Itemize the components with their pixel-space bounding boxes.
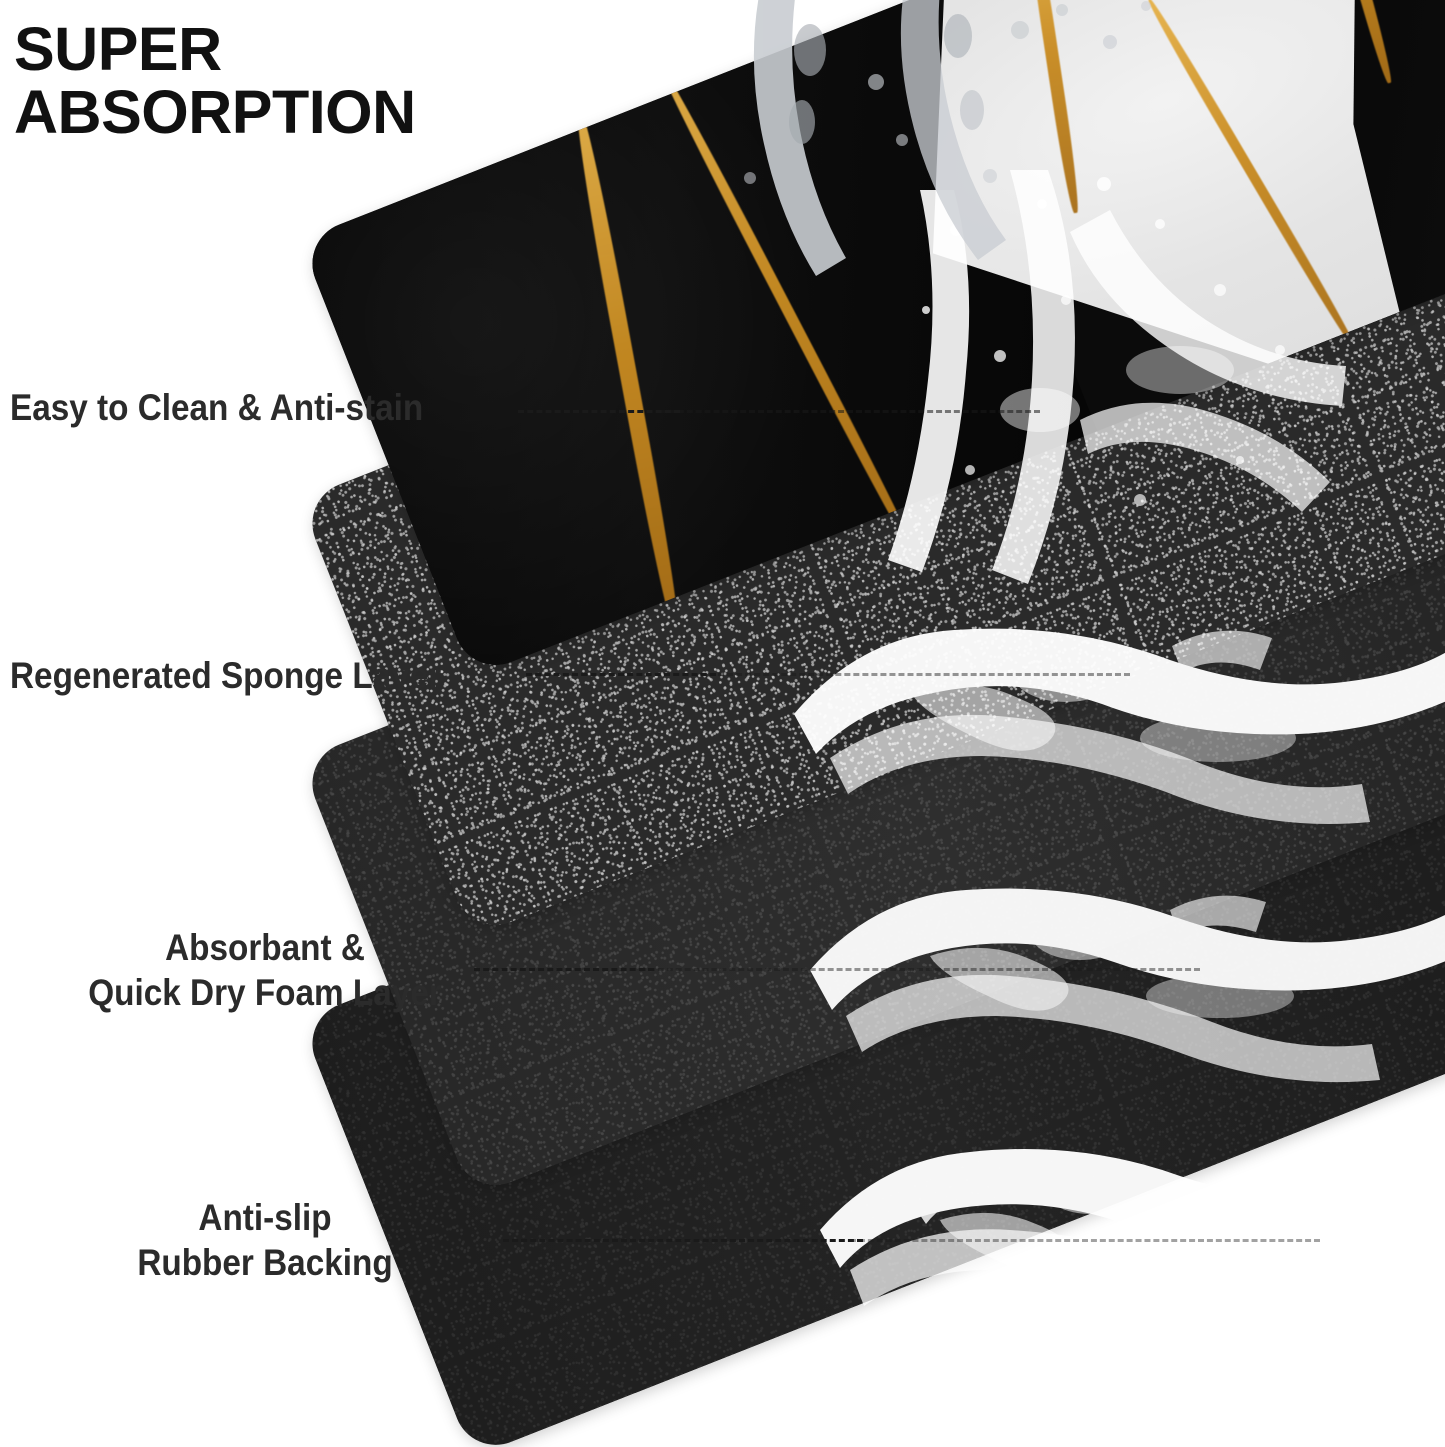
callout-regenerated-sponge: Regenerated Sponge Layer: [10, 653, 441, 698]
leader-line-sponge: [526, 673, 716, 676]
leader-line-easy-to-clean-over: [660, 410, 1040, 413]
leader-line-rubber: [503, 1239, 863, 1242]
page-title: SUPER ABSORPTION: [14, 18, 634, 144]
leader-line-foam: [474, 968, 654, 971]
leader-line-foam-over: [640, 968, 1200, 971]
callout-anti-slip-rubber: Anti-slip Rubber Backing: [81, 1195, 450, 1285]
infographic-canvas: SUPER ABSORPTION Easy to Clean & Anti-st…: [0, 0, 1445, 1447]
leader-line-sponge-over: [700, 673, 1130, 676]
callout-absorbant-foam: Absorbant & Quick Dry Foam Layer: [54, 925, 477, 1015]
leader-line-rubber-over: [850, 1239, 1320, 1242]
leader-line-easy-to-clean: [518, 410, 680, 413]
callout-easy-to-clean: Easy to Clean & Anti-stain: [10, 385, 423, 430]
